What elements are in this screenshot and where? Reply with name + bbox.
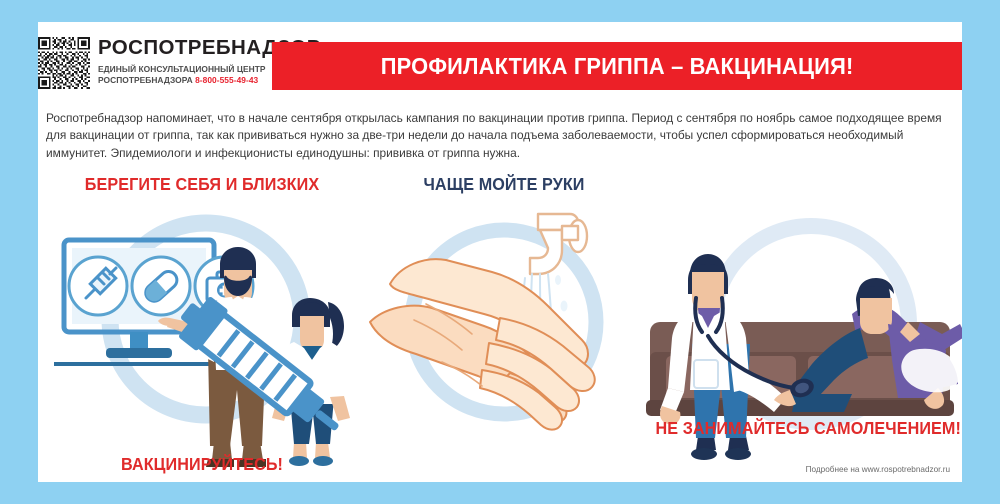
poster-header: РОСПОТРЕБНАДЗОР ЕДИНЫЙ КОНСУЛЬТАЦИОННЫЙ … <box>38 22 962 100</box>
panel-vaccinate: БЕРЕГИТЕ СЕБЯ И БЛИЗКИХ <box>48 174 356 474</box>
banner-title: ПРОФИЛАКТИКА ГРИППА – ВАКЦИНАЦИЯ! <box>381 53 854 80</box>
consult-center-line: ЕДИНЫЙ КОНСУЛЬТАЦИОННЫЙ ЦЕНТР <box>98 64 266 74</box>
hotline-phone: 8-800-555-49-43 <box>195 75 258 85</box>
panel-no-self-treatment-heading: НЕ ЗАНИМАЙТЕСЬ САМОЛЕЧЕНИЕМ! <box>655 418 952 439</box>
org-name-line: РОСПОТРЕБНАДЗОРА <box>98 75 193 85</box>
panel-wash-hands: ЧАЩЕ МОЙТЕ РУКИ <box>368 174 640 474</box>
qr-code-icon <box>38 37 90 89</box>
brand-block: РОСПОТРЕБНАДЗОР ЕДИНЫЙ КОНСУЛЬТАЦИОННЫЙ … <box>38 36 270 98</box>
illustration-doctor-nurse-syringe <box>48 174 356 474</box>
panel-no-self-treatment: НЕ ЗАНИМАЙТЕСЬ САМОЛЕЧЕНИЕМ! <box>646 174 962 474</box>
more-info-footnote: Подробнее на www.rospotrebnadzor.ru <box>806 465 950 474</box>
title-banner: ПРОФИЛАКТИКА ГРИППА – ВАКЦИНАЦИЯ! <box>272 42 962 90</box>
poster-card: РОСПОТРЕБНАДЗОР ЕДИНЫЙ КОНСУЛЬТАЦИОННЫЙ … <box>38 22 962 482</box>
brand-subtitle: ЕДИНЫЙ КОНСУЛЬТАЦИОННЫЙ ЦЕНТР РОСПОТРЕБН… <box>98 64 266 87</box>
panel-vaccinate-heading-bottom: ВАКЦИНИРУЙТЕСЬ! <box>57 454 347 475</box>
intro-paragraph: Роспотребнадзор напоминает, что в начале… <box>46 110 956 162</box>
illustration-hands-washing <box>368 174 640 474</box>
